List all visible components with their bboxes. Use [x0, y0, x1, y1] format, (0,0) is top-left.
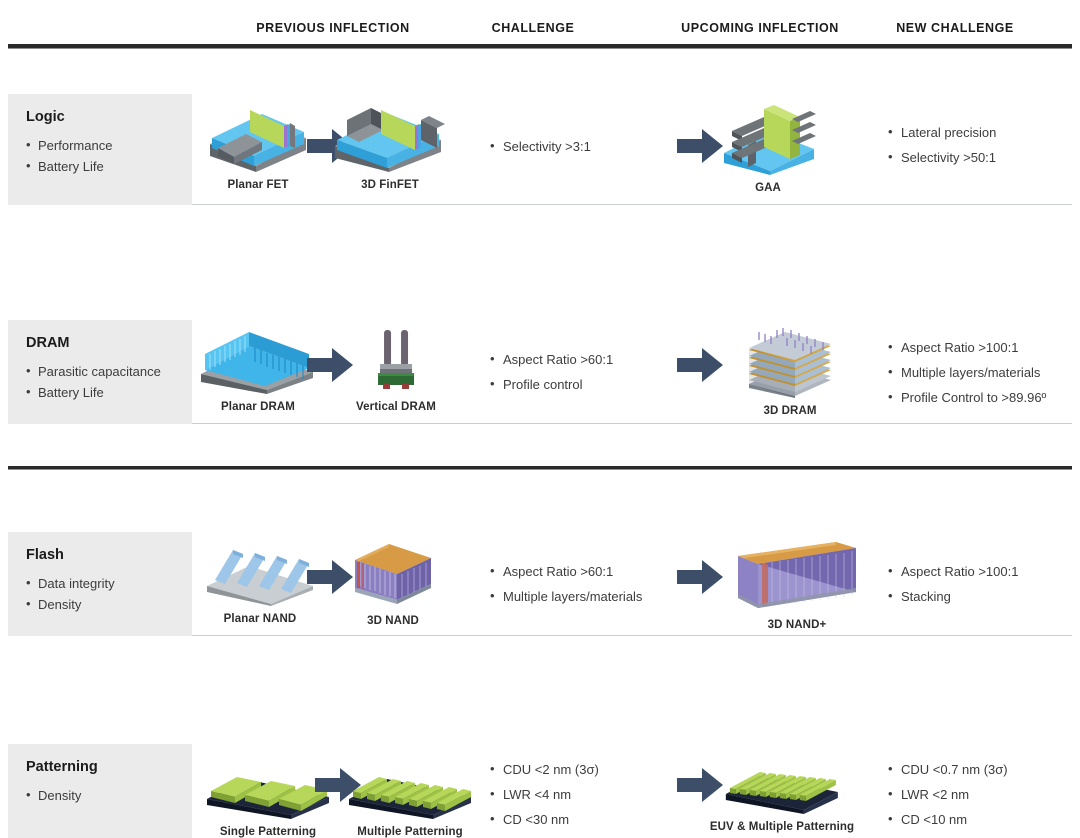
category-bullet-list: Data integrity Density	[26, 573, 192, 615]
challenge-list-flash: Aspect Ratio >60:1 Multiple layers/mater…	[490, 560, 642, 610]
list-item: Lateral precision	[888, 121, 996, 146]
list-item: CDU <0.7 nm (3σ)	[888, 758, 1008, 783]
challenge-list-patterning: CDU <2 nm (3σ) LWR <4 nm CD <30 nm	[490, 758, 599, 833]
category-bullet-list: Density	[26, 785, 192, 806]
category-title: Patterning	[26, 760, 192, 776]
new-challenge-list-patterning: CDU <0.7 nm (3σ) LWR <2 nm CD <10 nm	[888, 758, 1008, 833]
list-item: CD <30 nm	[490, 808, 599, 833]
figure-caption: Single Patterning	[201, 826, 335, 838]
category-cell-flash: Flash Data integrity Density	[8, 532, 192, 636]
list-item: CD <10 nm	[888, 808, 1008, 833]
figure-planar-nand: Planar NAND	[199, 540, 321, 625]
list-item: Aspect Ratio >60:1	[490, 560, 642, 585]
list-item: CDU <2 nm (3σ)	[490, 758, 599, 783]
column-header-new-challenge: NEW CHALLENGE	[896, 21, 1014, 35]
table-row-dram: DRAM Parasitic capacitance Battery Life	[0, 160, 1080, 264]
multiple-patterning-icon	[343, 757, 477, 824]
row-separator	[192, 635, 1072, 636]
table-row-patterning: Patterning Density	[0, 372, 1080, 466]
list-item: Aspect Ratio >100:1	[888, 560, 1018, 585]
figure-3d-nand-plus: 3D NAND+	[730, 538, 864, 631]
euv-multiple-patterning-icon	[710, 758, 854, 819]
figure-caption: 3D NAND	[345, 615, 441, 627]
nand-3d-icon	[345, 538, 441, 613]
category-cell-patterning: Patterning Density	[8, 744, 192, 838]
list-item: Multiple layers/materials	[490, 585, 642, 610]
list-item: Performance	[26, 135, 192, 156]
new-challenge-list-flash: Aspect Ratio >100:1 Stacking	[888, 560, 1018, 610]
figure-caption: EUV & Multiple Patterning	[710, 821, 854, 833]
figure-euv-multiple-patterning: EUV & Multiple Patterning	[710, 758, 854, 833]
list-item: LWR <4 nm	[490, 783, 599, 808]
figure-multiple-patterning: Multiple Patterning	[343, 757, 477, 838]
planar-nand-icon	[199, 540, 321, 611]
footer-rule	[8, 466, 1072, 469]
table-row-logic: Logic Performance Battery Life	[0, 47, 1080, 158]
column-header-upcoming-inflection: UPCOMING INFLECTION	[681, 21, 839, 35]
list-item: Density	[26, 594, 192, 615]
list-item: Selectivity >3:1	[490, 135, 591, 160]
category-title: Flash	[26, 548, 192, 564]
figure-caption: 3D NAND+	[730, 619, 864, 631]
figure-3d-nand: 3D NAND	[345, 538, 441, 627]
list-item: Stacking	[888, 585, 1018, 610]
table-header: PREVIOUS INFLECTION CHALLENGE UPCOMING I…	[0, 0, 1080, 47]
category-title: Logic	[26, 110, 192, 126]
figure-caption: Multiple Patterning	[343, 826, 477, 838]
table-row-flash: Flash Data integrity Density	[0, 266, 1080, 370]
list-item: LWR <2 nm	[888, 783, 1008, 808]
figure-caption: Planar NAND	[199, 613, 321, 625]
column-header-challenge: CHALLENGE	[492, 21, 575, 35]
right-arrow-icon	[677, 560, 723, 594]
list-item: Data integrity	[26, 573, 192, 594]
nand-3d-plus-icon	[730, 538, 864, 617]
list-item: Density	[26, 785, 192, 806]
column-header-previous-inflection: PREVIOUS INFLECTION	[256, 21, 410, 35]
technology-inflection-roadmap: PREVIOUS INFLECTION CHALLENGE UPCOMING I…	[0, 0, 1080, 478]
challenge-list-logic: Selectivity >3:1	[490, 135, 591, 160]
